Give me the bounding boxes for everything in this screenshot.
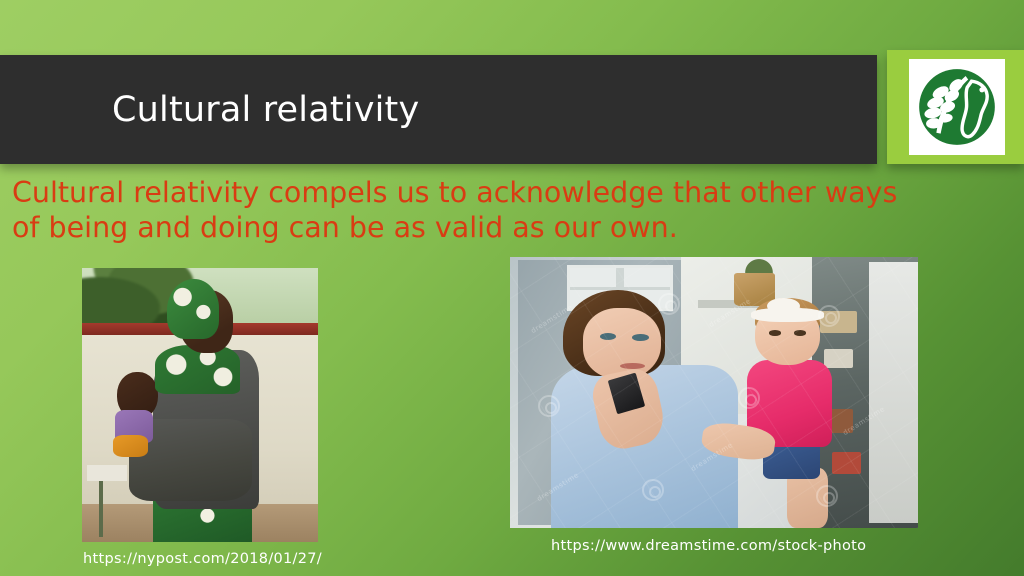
photo-right-content: dreamstime dreamstime dreamstime dreamst… <box>510 257 918 528</box>
photo-right-woman-face <box>583 308 661 378</box>
photo-right-baby-eye <box>794 330 806 335</box>
photo-right-fridge-item <box>820 311 857 333</box>
photo-left-bench <box>87 465 127 536</box>
logo-panel <box>887 50 1024 164</box>
photo-right-baby-bow <box>767 298 800 314</box>
body-line-2: of being and doing can be as valid as ou… <box>12 210 1002 245</box>
body-text: Cultural relativity compels us to acknow… <box>12 175 1002 245</box>
organization-logo-icon <box>914 64 1000 150</box>
photo-left-baby-sleeve <box>113 435 148 457</box>
photo-right: dreamstime dreamstime dreamstime dreamst… <box>510 257 918 528</box>
photo-left-headwrap <box>167 279 219 339</box>
page-title: Cultural relativity <box>112 90 419 130</box>
photo-right-fridge-door <box>869 262 918 522</box>
photo-left-caption[interactable]: https://nypost.com/2018/01/27/ <box>83 551 322 567</box>
photo-right-fridge-item <box>824 349 853 368</box>
photo-right-woman-eye <box>600 333 616 340</box>
body-line-1: Cultural relativity compels us to acknow… <box>12 175 1002 210</box>
photo-left <box>82 268 318 542</box>
photo-right-caption[interactable]: https://www.dreamstime.com/stock-photo <box>551 538 866 554</box>
photo-left-content <box>82 268 318 542</box>
slide-canvas: Cultural relativity <box>0 0 1024 576</box>
logo-plate <box>909 59 1005 155</box>
title-bar: Cultural relativity <box>0 55 877 164</box>
photo-right-fridge-item <box>832 452 861 474</box>
photo-right-woman-mouth <box>620 363 644 369</box>
photo-right-baby-eye <box>769 330 781 335</box>
